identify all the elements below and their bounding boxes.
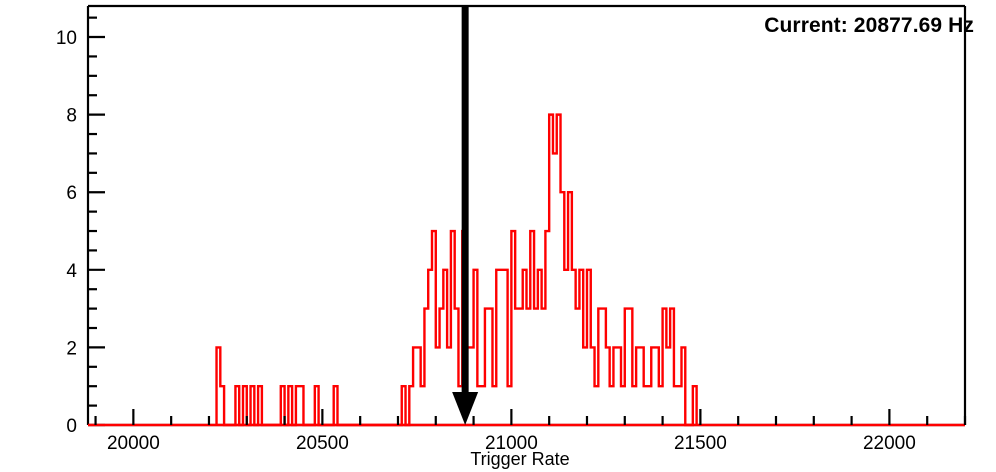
y-tick-label: 2 xyxy=(66,338,77,359)
histogram-chart: 0246810 2000020500210002150022000 Trigge… xyxy=(0,0,996,472)
y-axis-ticks xyxy=(88,18,105,425)
y-tick-label: 10 xyxy=(56,28,77,49)
x-tick-label: 22000 xyxy=(863,433,916,454)
current-value-marker xyxy=(452,6,478,425)
y-tick-label: 8 xyxy=(66,106,77,127)
y-tick-label: 6 xyxy=(66,183,77,204)
histogram-series xyxy=(88,115,965,425)
root-canvas: Current: 20877.69 Hz 0246810 20000205002… xyxy=(0,0,996,472)
x-tick-label: 20000 xyxy=(107,433,160,454)
x-tick-label: 21500 xyxy=(674,433,727,454)
x-axis-ticks xyxy=(96,409,965,425)
histogram-outline xyxy=(217,115,697,425)
x-axis-title: Trigger Rate xyxy=(470,449,569,469)
y-tick-label: 0 xyxy=(66,416,77,437)
x-tick-label: 20500 xyxy=(296,433,349,454)
y-tick-label: 4 xyxy=(66,261,77,282)
y-axis-tick-labels: 0246810 xyxy=(56,28,78,437)
